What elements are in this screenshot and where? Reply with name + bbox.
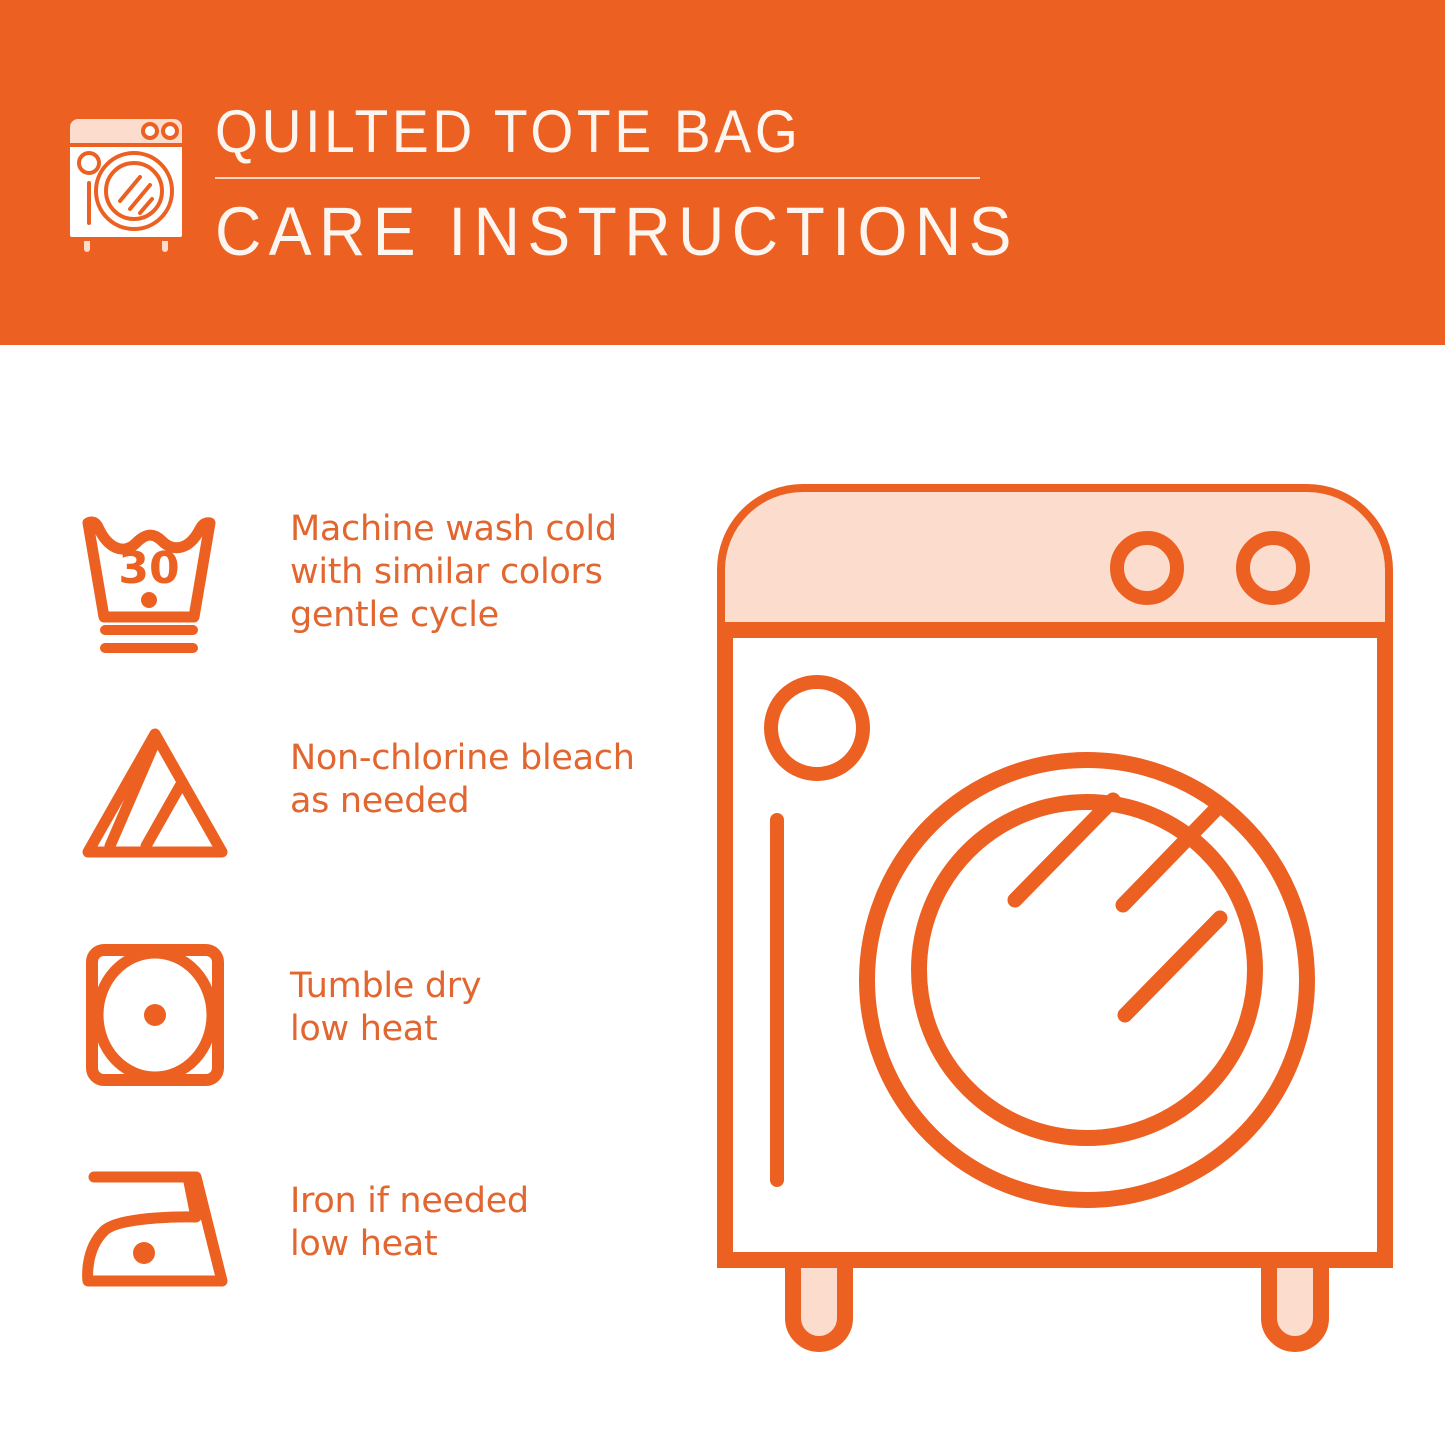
door-inner-ring — [919, 802, 1255, 1138]
tumble-dry-low-symbol — [70, 930, 240, 1100]
washing-machine-illustration — [715, 480, 1395, 1380]
care-text-line: Machine wash cold — [290, 508, 690, 551]
iron-low-heat-symbol — [70, 1145, 240, 1315]
knob-right — [1243, 538, 1303, 598]
care-text-line: Iron if needed — [290, 1180, 690, 1223]
dial — [771, 682, 863, 774]
wash-temp-label: 30 — [118, 543, 179, 594]
header-text-block: QUILTED TOTE BAG CARE INSTRUCTIONS — [215, 96, 1015, 271]
leg-left — [793, 1260, 845, 1344]
page-title: QUILTED TOTE BAG — [215, 96, 951, 168]
care-text-line: low heat — [290, 1008, 690, 1051]
care-text-line: with similar colors — [290, 551, 690, 594]
care-text-line: Tumble dry — [290, 965, 690, 1008]
care-text-dry: Tumble dry low heat — [290, 965, 690, 1051]
care-text-line: low heat — [290, 1223, 690, 1266]
care-text-wash: Machine wash cold with similar colors ge… — [290, 508, 690, 637]
knob-left — [1117, 538, 1177, 598]
care-text-bleach: Non-chlorine bleach as needed — [290, 737, 690, 823]
care-instructions-infographic: QUILTED TOTE BAG CARE INSTRUCTIONS 30 Ma… — [0, 0, 1445, 1445]
non-chlorine-bleach-symbol — [70, 710, 240, 880]
care-text-iron: Iron if needed low heat — [290, 1180, 690, 1266]
care-text-line: as needed — [290, 780, 690, 823]
title-divider — [215, 177, 980, 179]
machine-wash-30-gentle-symbol: 30 — [70, 495, 240, 675]
washing-machine-icon — [62, 97, 190, 257]
leg-right — [1269, 1260, 1321, 1344]
page-subtitle: CARE INSTRUCTIONS — [215, 193, 959, 271]
care-text-line: gentle cycle — [290, 594, 690, 637]
care-instruction-list: 30 Machine wash cold with similar colors… — [0, 345, 700, 1445]
header-banner: QUILTED TOTE BAG CARE INSTRUCTIONS — [0, 0, 1445, 345]
care-text-line: Non-chlorine bleach — [290, 737, 690, 780]
